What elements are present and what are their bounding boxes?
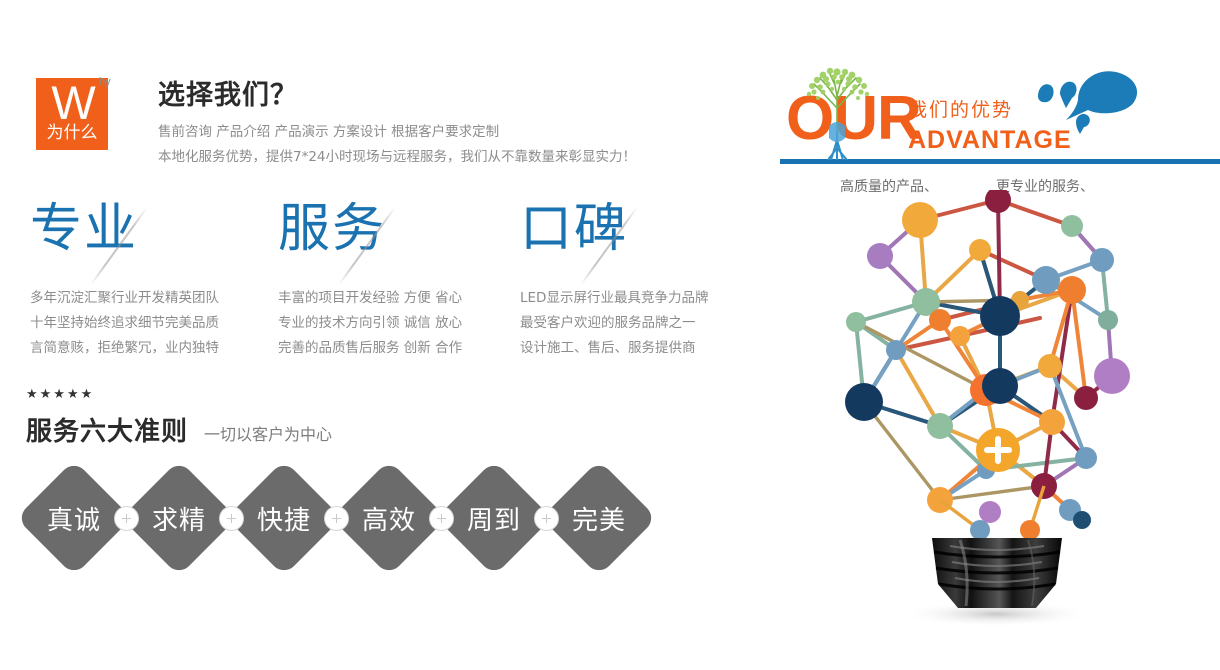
feature-body: 丰富的项目开发经验 方便 省心 专业的技术方向引领 诚信 放心 完善的品质售后服… [278,286,528,361]
feature-line: 十年坚持始终追求细节完美品质 [30,311,280,336]
feature-line: LED显示屏行业最具竞争力品牌 [520,286,770,311]
diamond-label: 真诚 [22,466,126,570]
feature-line: 专业的技术方向引领 诚信 放心 [278,311,528,336]
diamond-item[interactable]: 真诚 [22,466,126,570]
principles-heading-block: ★★★★★ 服务六大准则 一切以客户为中心 [26,388,332,448]
feature-line: 设计施工、售后、服务提供商 [520,336,770,361]
feature-heading: 口碑 [520,196,628,262]
left-panel: W 为什么 选择我们？ 售前咨询 产品介绍 产品演示 方案设计 根据客户要求定制… [0,0,770,670]
our-advantage-header: OUR [780,62,1220,172]
plus-connector-icon [219,506,244,531]
splash-decoration-icon [1038,58,1158,148]
feature-body: LED显示屏行业最具竞争力品牌 最受客户欢迎的服务品牌之一 设计施工、售后、服务… [520,286,770,361]
why-subline-2: 本地化服务优势，提供7*24小时现场与远程服务，我们从不靠数量来彰显实力！ [158,145,636,170]
stars-rating: ★★★★★ [26,388,332,402]
why-text-group: 选择我们？ 售前咨询 产品介绍 产品演示 方案设计 根据客户要求定制 本地化服务… [158,78,636,170]
feature-line: 完善的品质售后服务 创新 合作 [278,336,528,361]
diamond-label: 快捷 [232,466,336,570]
plus-connector-icon [324,506,349,531]
bulb-screw-base [932,538,1062,608]
diamond-item[interactable]: 求精 [127,466,231,570]
diamond-label: 周到 [442,466,546,570]
feature-line: 言简意赅，拒绝繁冗，业内独特 [30,336,280,361]
header-divider-rule [780,159,1220,164]
our-wordmark: OUR [786,88,921,150]
feature-heading-wrap: 服务 [278,196,478,274]
feature-line: 丰富的项目开发经验 方便 省心 [278,286,528,311]
marketing-page: W 为什么 选择我们？ 售前咨询 产品介绍 产品演示 方案设计 根据客户要求定制… [0,0,1220,670]
page-title: 选择我们？ [158,80,636,112]
principles-diamond-row: 真诚 求精 快捷 高效 周到 [22,466,651,570]
feature-body: 多年沉淀汇聚行业开发精英团队 十年坚持始终追求细节完美品质 言简意赅，拒绝繁冗，… [30,286,280,361]
why-logo-label: 为什么 [36,124,108,143]
why-logo-superscript: hy [99,76,111,88]
principles-subtitle: 一切以客户为中心 [204,421,332,445]
why-logo-letter: W [36,79,108,126]
plus-connector-icon [114,506,139,531]
feature-column-service: 服务 丰富的项目开发经验 方便 省心 专业的技术方向引领 诚信 放心 完善的品质… [278,196,528,361]
principles-title-row: 服务六大准则 一切以客户为中心 [26,411,332,448]
diamond-item[interactable]: 完美 [547,466,651,570]
why-subline-1: 售前咨询 产品介绍 产品演示 方案设计 根据客户要求定制 [158,120,636,145]
plus-connector-icon [429,506,454,531]
diamond-label: 完美 [547,466,651,570]
diamond-label: 求精 [127,466,231,570]
feature-line: 多年沉淀汇聚行业开发精英团队 [30,286,280,311]
principles-title: 服务六大准则 [26,411,188,448]
diamond-item[interactable]: 快捷 [232,466,336,570]
feature-column-professional: 专业 多年沉淀汇聚行业开发精英团队 十年坚持始终追求细节完美品质 言简意赅，拒绝… [30,196,280,361]
feature-heading: 服务 [278,196,386,262]
why-us-block: W 为什么 选择我们？ 售前咨询 产品介绍 产品演示 方案设计 根据客户要求定制… [36,78,636,170]
diamond-item[interactable]: 高效 [337,466,441,570]
lightbulb-network-graphic [840,190,1150,630]
diamond-item[interactable]: 周到 [442,466,546,570]
feature-heading-wrap: 口碑 [520,196,720,274]
feature-heading-wrap: 专业 [30,196,230,274]
feature-column-reputation: 口碑 LED显示屏行业最具竞争力品牌 最受客户欢迎的服务品牌之一 设计施工、售后… [520,196,770,361]
why-logo-badge: W 为什么 [36,78,108,150]
our-cn-title: 我们的优势 [908,95,1013,122]
plus-connector-icon [534,506,559,531]
diamond-label: 高效 [337,466,441,570]
feature-heading: 专业 [30,196,138,262]
feature-line: 最受客户欢迎的服务品牌之一 [520,311,770,336]
